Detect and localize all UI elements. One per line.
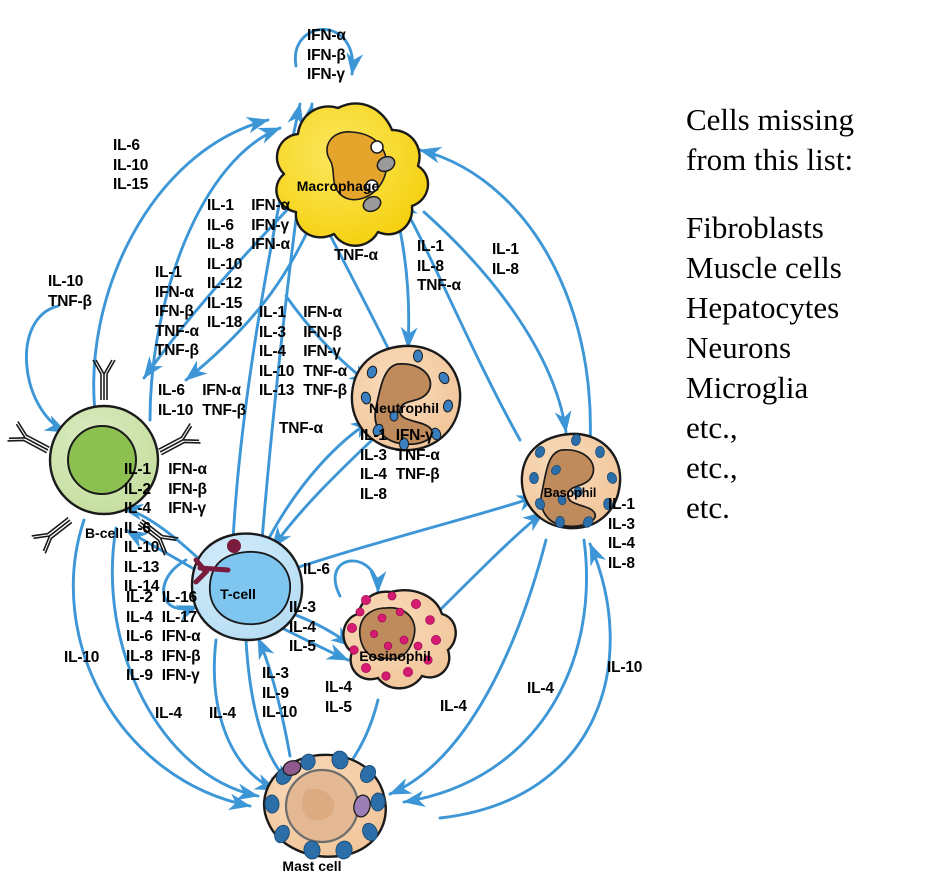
side-panel: Cells missing from this list: Fibroblast… — [686, 100, 936, 528]
cytokine-item: IL-10 — [48, 272, 92, 292]
cytokine-item: IL-3 — [608, 515, 635, 535]
cytokine-item: IL-8 — [492, 260, 519, 280]
cytokine-item: IL-1 — [124, 460, 159, 480]
cytokine-column: IL-6IL-10 — [158, 381, 193, 420]
cytokine-item: IL-5 — [325, 698, 352, 718]
cytokine-item: IL-1 — [608, 495, 635, 515]
cytokine-item: IL-4 — [608, 534, 635, 554]
cytokine-column: IL-1IL-8TNF-α — [417, 237, 461, 296]
cytokine-item: IFN-α — [155, 283, 199, 303]
cytokine-column: IL-10 — [64, 648, 99, 668]
side-panel-list: FibroblastsMuscle cellsHepatocytesNeuron… — [686, 208, 936, 528]
cytokine-item: TNF-α — [155, 322, 199, 342]
cytokine-label-eosinophil-self: IL-6 — [303, 560, 330, 580]
cytokine-item: IL-10 — [64, 648, 99, 668]
cytokine-item: IL-9 — [262, 684, 297, 704]
cytokine-item: IL-4 — [325, 678, 352, 698]
cell-label-neutrophil: Neutrophil — [369, 400, 439, 416]
cytokine-column: IL-4 — [527, 679, 554, 699]
cytokine-item: IL-4 — [124, 499, 159, 519]
side-panel-item: etc., — [686, 408, 936, 448]
cell-label-basophil: Basophil — [544, 486, 597, 500]
cytokine-item: IL-1 — [360, 426, 387, 446]
cytokine-item: IL-12 — [207, 274, 242, 294]
cytokine-column: IL-2IL-4IL-6IL-8IL-9 — [126, 588, 153, 686]
cell-label-bcell: B-cell — [85, 525, 123, 541]
cell-macrophage — [276, 104, 428, 246]
cytokine-item: IL-4 — [155, 704, 182, 724]
cell-basophil — [522, 433, 620, 529]
cytokine-item: IL-2 — [126, 588, 153, 608]
side-panel-item: Microglia — [686, 368, 936, 408]
cytokine-label-eosinophil-to-mast: IL-4IL-5 — [325, 678, 352, 717]
side-panel-item: Neurons — [686, 328, 936, 368]
cytokine-label-tcell-to-bcell: IL-1IL-2IL-4IL-6IL-10IL-13IL-14IFN-αIFN-… — [124, 460, 207, 597]
cytokine-item: TNF-α — [334, 246, 378, 266]
cytokine-item: IL-1 — [259, 303, 294, 323]
cytokine-item: IL-10 — [124, 538, 159, 558]
cytokine-item: IFN-α — [251, 196, 290, 216]
cytokine-column: IL-4 — [155, 704, 182, 724]
cytokine-column: IL-10 — [607, 658, 642, 678]
cytokine-item: IL-10 — [259, 362, 294, 382]
cytokine-item: IL-1 — [207, 196, 242, 216]
cytokine-label-bcell-to-mast: IL-4 — [155, 704, 182, 724]
cytokine-column: IFN-αIFN-βIFN-γTNF-αTNF-β — [303, 303, 347, 401]
cytokine-item: IFN-β — [307, 46, 346, 66]
cytokine-item: IL-16 — [162, 588, 201, 608]
cytokine-item: IL-9 — [126, 666, 153, 686]
cytokine-item: IL-10 — [113, 156, 148, 176]
cytokine-item: IFN-β — [162, 647, 201, 667]
cell-eosinophil — [343, 590, 455, 688]
cytokine-item: IL-8 — [126, 647, 153, 667]
cytokine-item: IL-6 — [207, 216, 242, 236]
cytokine-item: IL-10 — [262, 703, 297, 723]
cytokine-item: TNF-β — [48, 292, 92, 312]
side-panel-header-line-2: from this list: — [686, 140, 936, 180]
side-panel-header-line-1: Cells missing — [686, 100, 936, 140]
cytokine-item: IL-1 — [417, 237, 461, 257]
cytokine-item: IL-6 — [303, 560, 330, 580]
cytokine-column: IFN-γTNF-αTNF-β — [396, 426, 440, 504]
cell-label-macrophage: Macrophage — [297, 178, 379, 194]
cytokine-item: IL-4 — [126, 608, 153, 628]
cytokine-item: IL-4 — [360, 465, 387, 485]
cytokine-item: TNF-β — [303, 381, 347, 401]
cytokine-label-basophil-to-mast-il4: IL-4 — [527, 679, 554, 699]
cytokine-item: IL-10 — [207, 255, 242, 275]
cytokine-item: IL-10 — [607, 658, 642, 678]
cytokine-column: TNF-α — [279, 419, 323, 439]
cytokine-item: IL-15 — [113, 175, 148, 195]
cytokine-item: IL-2 — [124, 480, 159, 500]
cytokine-item: IFN-α — [251, 235, 290, 255]
cytokine-item: IFN-γ — [396, 426, 440, 446]
cytokine-item: IL-1 — [155, 263, 199, 283]
cytokine-column: IL-1IL-3IL-4IL-8 — [608, 495, 635, 573]
cytokine-item: IL-4 — [209, 704, 236, 724]
side-panel-item: Muscle cells — [686, 248, 936, 288]
cytokine-column: IL-1IL-2IL-4IL-6IL-10IL-13IL-14 — [124, 460, 159, 597]
cytokine-label-tcell-to-eosinophil: IL-3IL-4IL-5 — [289, 598, 316, 657]
cell-label-mastcell: Mast cell — [282, 858, 341, 874]
cytokine-label-tcell-self: IL-2IL-4IL-6IL-8IL-9IL-16IL-17IFN-αIFN-β… — [126, 588, 200, 686]
cytokine-item: TNF-β — [155, 341, 199, 361]
cell-mastcell — [264, 750, 386, 861]
cytokine-column: TNF-α — [334, 246, 378, 266]
cytokine-label-mastcell-to-macrophage: IL-1IL-8 — [492, 240, 519, 279]
cytokine-item: IFN-α — [168, 460, 207, 480]
cytokine-column: IL-1IL-3IL-4IL-8 — [360, 426, 387, 504]
cytokine-label-mast-right-il4: IL-4 — [440, 697, 467, 717]
side-panel-item: etc., — [686, 448, 936, 488]
cytokine-label-neutrophil-to-macrophage: TNF-α — [334, 246, 378, 266]
cytokine-item: IFN-α — [162, 627, 201, 647]
cytokine-item: IFN-γ — [303, 342, 347, 362]
cell-label-eosinophil: Eosinophil — [359, 648, 431, 664]
cytokine-column: IL-1IL-8 — [492, 240, 519, 279]
cytokine-column: IFN-αTNF-β — [202, 381, 246, 420]
cytokine-item: IL-6 — [124, 519, 159, 539]
diagram-canvas: Macrophage B-cell T-cell Neutrophil Eosi… — [0, 0, 948, 886]
cytokine-column: IL-1IFN-αIFN-βTNF-αTNF-β — [155, 263, 199, 361]
cytokine-item: IL-6 — [158, 381, 193, 401]
cytokine-item: IL-17 — [162, 608, 201, 628]
cytokine-label-bcell-bottom: IL-10 — [64, 648, 99, 668]
cytokine-column: IL-6 — [303, 560, 330, 580]
cytokine-item: TNF-α — [279, 419, 323, 439]
cytokine-label-basophil-in: IL-1IL-3IL-4IL-8 — [608, 495, 635, 573]
cytokine-item: IL-4 — [527, 679, 554, 699]
cytokine-item: IL-8 — [207, 235, 242, 255]
cytokine-column: IL-4 — [440, 697, 467, 717]
cytokine-item: TNF-α — [303, 362, 347, 382]
cytokine-label-tcell-mast-multi: IL-3IL-9IL-10 — [262, 664, 297, 723]
cytokine-label-macrophage-to-neutrophil-left: IL-1IL-3IL-4IL-10IL-13IFN-αIFN-βIFN-γTNF… — [259, 303, 347, 401]
cytokine-column: IL-1IL-3IL-4IL-10IL-13 — [259, 303, 294, 401]
cytokine-label-tcell-to-neutrophil: TNF-α — [279, 419, 323, 439]
cell-label-tcell: T-cell — [220, 586, 256, 602]
cytokine-item: IL-13 — [259, 381, 294, 401]
cytokine-column: IL-4IL-5 — [325, 678, 352, 717]
cytokine-item: IL-8 — [608, 554, 635, 574]
cytokine-item: TNF-α — [396, 446, 440, 466]
cytokine-item: IL-6 — [126, 627, 153, 647]
cytokine-item: IL-3 — [289, 598, 316, 618]
cytokine-column: IL-16IL-17IFN-αIFN-βIFN-γ — [162, 588, 201, 686]
cytokine-item: IL-4 — [259, 342, 294, 362]
cytokine-item: IL-8 — [417, 257, 461, 277]
cytokine-column: IFN-αIFN-βIFN-γ — [307, 26, 346, 85]
side-panel-item: Hepatocytes — [686, 288, 936, 328]
cytokine-item: IL-3 — [259, 323, 294, 343]
cytokine-label-bcell-to-macrophage: IL-6IL-10IL-15 — [113, 136, 148, 195]
cytokine-label-bcell-out: IL-6IL-10IFN-αTNF-β — [158, 381, 246, 420]
cytokine-label-bcell-self: IL-10TNF-β — [48, 272, 92, 311]
cytokine-item: IFN-α — [307, 26, 346, 46]
cytokine-label-tcell-to-mast: IL-4 — [209, 704, 236, 724]
cytokine-item: IL-5 — [289, 637, 316, 657]
cytokine-item: IFN-α — [303, 303, 347, 323]
cytokine-item: IL-6 — [113, 136, 148, 156]
cytokine-item: IL-13 — [124, 558, 159, 578]
cytokine-label-basophil-to-macrophage: IL-1IL-8TNF-α — [417, 237, 461, 296]
cytokine-item: IFN-β — [303, 323, 347, 343]
cytokine-item: TNF-β — [396, 465, 440, 485]
cytokine-item: IL-3 — [262, 664, 297, 684]
cytokine-item: IL-1 — [492, 240, 519, 260]
cytokine-item: TNF-α — [417, 276, 461, 296]
cytokine-item: IFN-γ — [251, 216, 290, 236]
cytokine-item: IL-10 — [158, 401, 193, 421]
cytokine-column: IL-1IL-6IL-8IL-10IL-12IL-15IL-18 — [207, 196, 242, 333]
cytokine-column: IL-10TNF-β — [48, 272, 92, 311]
cytokine-label-macrophage-to-bcell: IL-1IFN-αIFN-βTNF-αTNF-β — [155, 263, 199, 361]
cytokine-item: IFN-α — [202, 381, 246, 401]
cytokine-label-mast-to-basophil-il10: IL-10 — [607, 658, 642, 678]
cytokine-item: IFN-γ — [307, 65, 346, 85]
side-panel-item: Fibroblasts — [686, 208, 936, 248]
cytokine-item: IL-4 — [289, 618, 316, 638]
cytokine-item: IFN-β — [168, 480, 207, 500]
cytokine-column: IL-3IL-4IL-5 — [289, 598, 316, 657]
cytokine-item: IFN-γ — [168, 499, 207, 519]
cytokine-item: IL-3 — [360, 446, 387, 466]
cytokine-column: IL-3IL-9IL-10 — [262, 664, 297, 723]
cytokine-column: IL-4 — [209, 704, 236, 724]
cytokine-column: IL-6IL-10IL-15 — [113, 136, 148, 195]
side-panel-header: Cells missing from this list: — [686, 100, 936, 180]
cytokine-item: TNF-β — [202, 401, 246, 421]
cytokine-item: IL-15 — [207, 294, 242, 314]
cytokine-label-ifn-top-macrophage: IFN-αIFN-βIFN-γ — [307, 26, 346, 85]
cytokine-item: IFN-β — [155, 302, 199, 322]
cytokine-item: IL-4 — [440, 697, 467, 717]
cytokine-item: IL-18 — [207, 313, 242, 333]
side-panel-item: etc. — [686, 488, 936, 528]
cytokine-column: IFN-αIFN-βIFN-γ — [168, 460, 207, 597]
cytokine-label-neutrophil-feedback: IL-1IL-3IL-4IL-8IFN-γTNF-αTNF-β — [360, 426, 440, 504]
cytokine-item: IL-8 — [360, 485, 387, 505]
cytokine-item: IFN-γ — [162, 666, 201, 686]
